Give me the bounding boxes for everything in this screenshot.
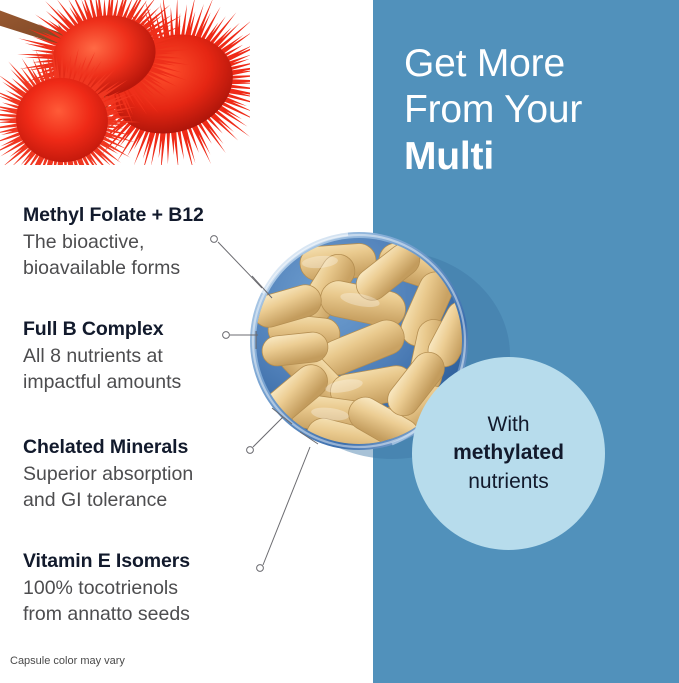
headline-line-1: Get More [404, 41, 666, 87]
feature-description: The bioactive, bioavailable forms [23, 230, 273, 281]
feature-item-vitamin-e-isomers: Vitamin E Isomers 100% tocotrienols from… [23, 550, 273, 628]
feature-title: Chelated Minerals [23, 436, 273, 459]
badge-line-1: With [488, 411, 530, 440]
page-title: Get More From Your Multi [404, 41, 666, 180]
feature-item-methyl-folate: Methyl Folate + B12 The bioactive, bioav… [23, 204, 273, 282]
feature-title: Full B Complex [23, 318, 273, 341]
feature-item-chelated-minerals: Chelated Minerals Superior absorption an… [23, 436, 273, 514]
feature-item-full-b-complex: Full B Complex All 8 nutrients at impact… [23, 318, 273, 396]
feature-description: All 8 nutrients at impactful amounts [23, 344, 273, 395]
feature-title: Vitamin E Isomers [23, 550, 273, 573]
disclaimer-note: Capsule color may vary [10, 655, 125, 667]
product-infographic: Get More From Your Multi With methylated… [0, 0, 679, 683]
methylated-badge-text: With methylated nutrients [412, 357, 605, 550]
badge-line-3: nutrients [468, 468, 549, 497]
headline-line-2: From Your [404, 87, 666, 133]
feature-description: Superior absorption and GI tolerance [23, 462, 273, 513]
feature-title: Methyl Folate + B12 [23, 204, 273, 227]
badge-line-2: methylated [453, 439, 564, 468]
feature-description: 100% tocotrienols from annatto seeds [23, 576, 273, 627]
headline-line-3: Multi [404, 134, 666, 180]
